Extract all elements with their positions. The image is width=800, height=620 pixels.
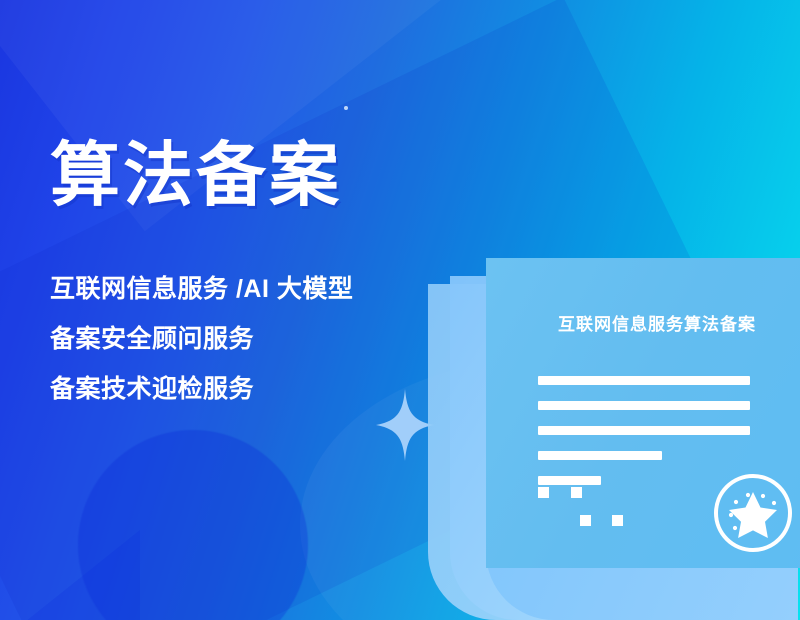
document-title: 互联网信息服务算法备案 <box>486 310 800 335</box>
document-line <box>538 476 601 485</box>
document-stack-illustration: 互联网信息服务算法备案 <box>428 258 800 620</box>
service-list: 互联网信息服务 /AI 大模型 备案安全顾问服务 备案技术迎检服务 <box>50 264 450 414</box>
page-title: 算法备案 <box>50 140 450 210</box>
service-item-2: 备案安全顾问服务 <box>50 314 450 364</box>
placeholder-square <box>612 515 623 526</box>
document-sheet-front: 互联网信息服务算法备案 <box>486 258 800 568</box>
service-item-1: 互联网信息服务 /AI 大模型 <box>50 264 450 314</box>
corner-wedge-shape <box>0 530 140 620</box>
placeholder-square <box>538 487 549 498</box>
placeholder-square <box>571 487 582 498</box>
document-line <box>538 401 750 410</box>
placeholder-square <box>580 515 591 526</box>
large-circle-shape <box>78 430 308 620</box>
star-seal-icon <box>712 472 794 554</box>
algorithm-filing-banner: 算法备案 互联网信息服务 /AI 大模型 备案安全顾问服务 备案技术迎检服务 互… <box>0 0 800 620</box>
document-line <box>538 426 750 435</box>
document-line <box>538 451 662 460</box>
headline-block: 算法备案 互联网信息服务 /AI 大模型 备案安全顾问服务 备案技术迎检服务 <box>50 140 450 414</box>
document-placeholder-squares <box>538 487 718 535</box>
document-line <box>538 376 750 385</box>
small-dot-icon <box>344 106 348 110</box>
service-item-3: 备案技术迎检服务 <box>50 364 450 414</box>
